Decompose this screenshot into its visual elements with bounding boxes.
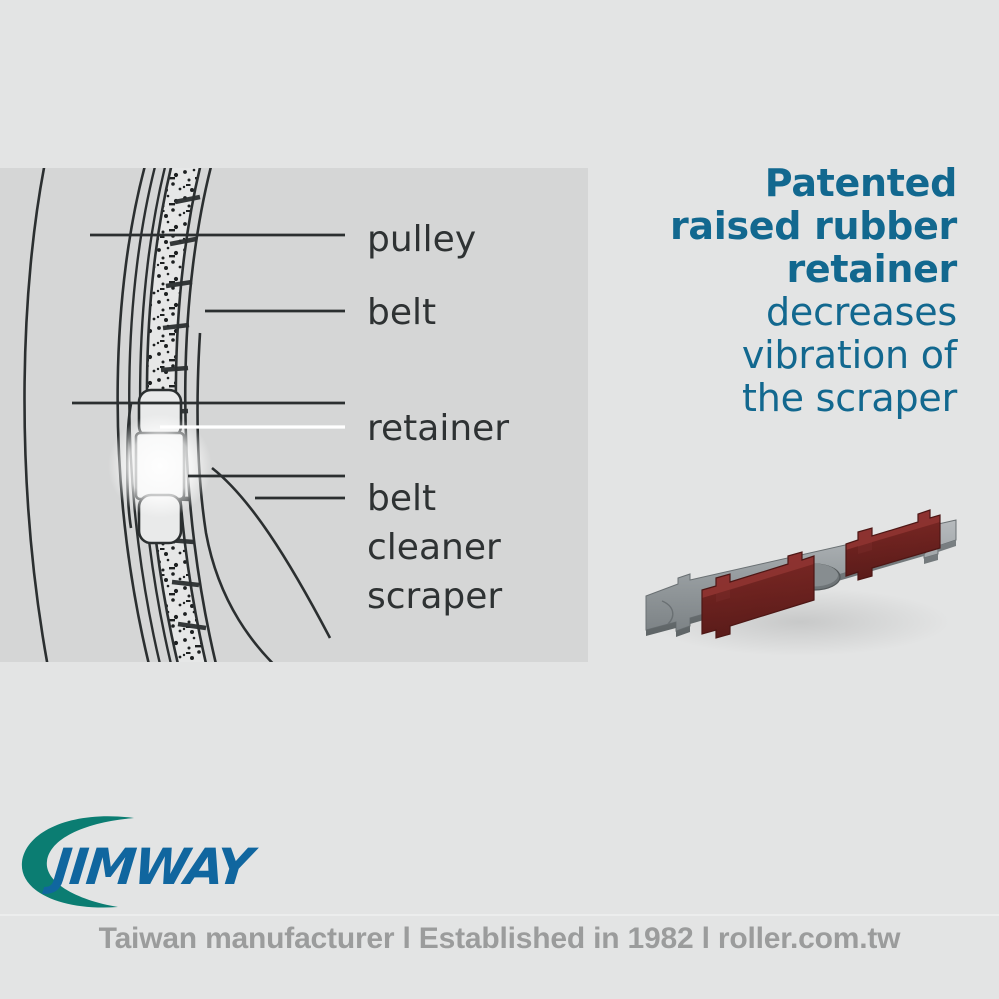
brand-logo: JIMWAY <box>14 812 314 912</box>
headline-light-line-2: vibration of <box>557 334 957 377</box>
headline-bold-line-1: Patented <box>557 162 957 205</box>
headline-light-line-3: the scraper <box>557 377 957 420</box>
product-photo <box>618 498 978 678</box>
jimway-logo: JIMWAY <box>14 812 314 912</box>
headline-bold-line-3: retainer <box>557 248 957 291</box>
headline-bold-line-2: raised rubber <box>557 205 957 248</box>
footer-divider <box>0 914 999 916</box>
retainer-highlight-glow <box>108 414 212 518</box>
retainer-product-image <box>618 498 978 678</box>
footer-tagline: Taiwan manufacturer l Established in 198… <box>0 922 999 956</box>
rubber-block-right <box>846 510 940 580</box>
callout-label-belt-cleaner-scraper: belt cleaner scraper <box>367 474 502 621</box>
poster-canvas: pulley belt retainer belt cleaner scrape… <box>0 0 999 999</box>
jimway-wordmark: JIMWAY <box>41 837 260 896</box>
headline-light-line-1: decreases <box>557 291 957 334</box>
callout-label-pulley: pulley <box>367 215 476 264</box>
callout-label-retainer: retainer <box>367 404 509 453</box>
callout-label-belt: belt <box>367 288 436 337</box>
headline-block: Patented raised rubber retainer decrease… <box>557 162 957 420</box>
